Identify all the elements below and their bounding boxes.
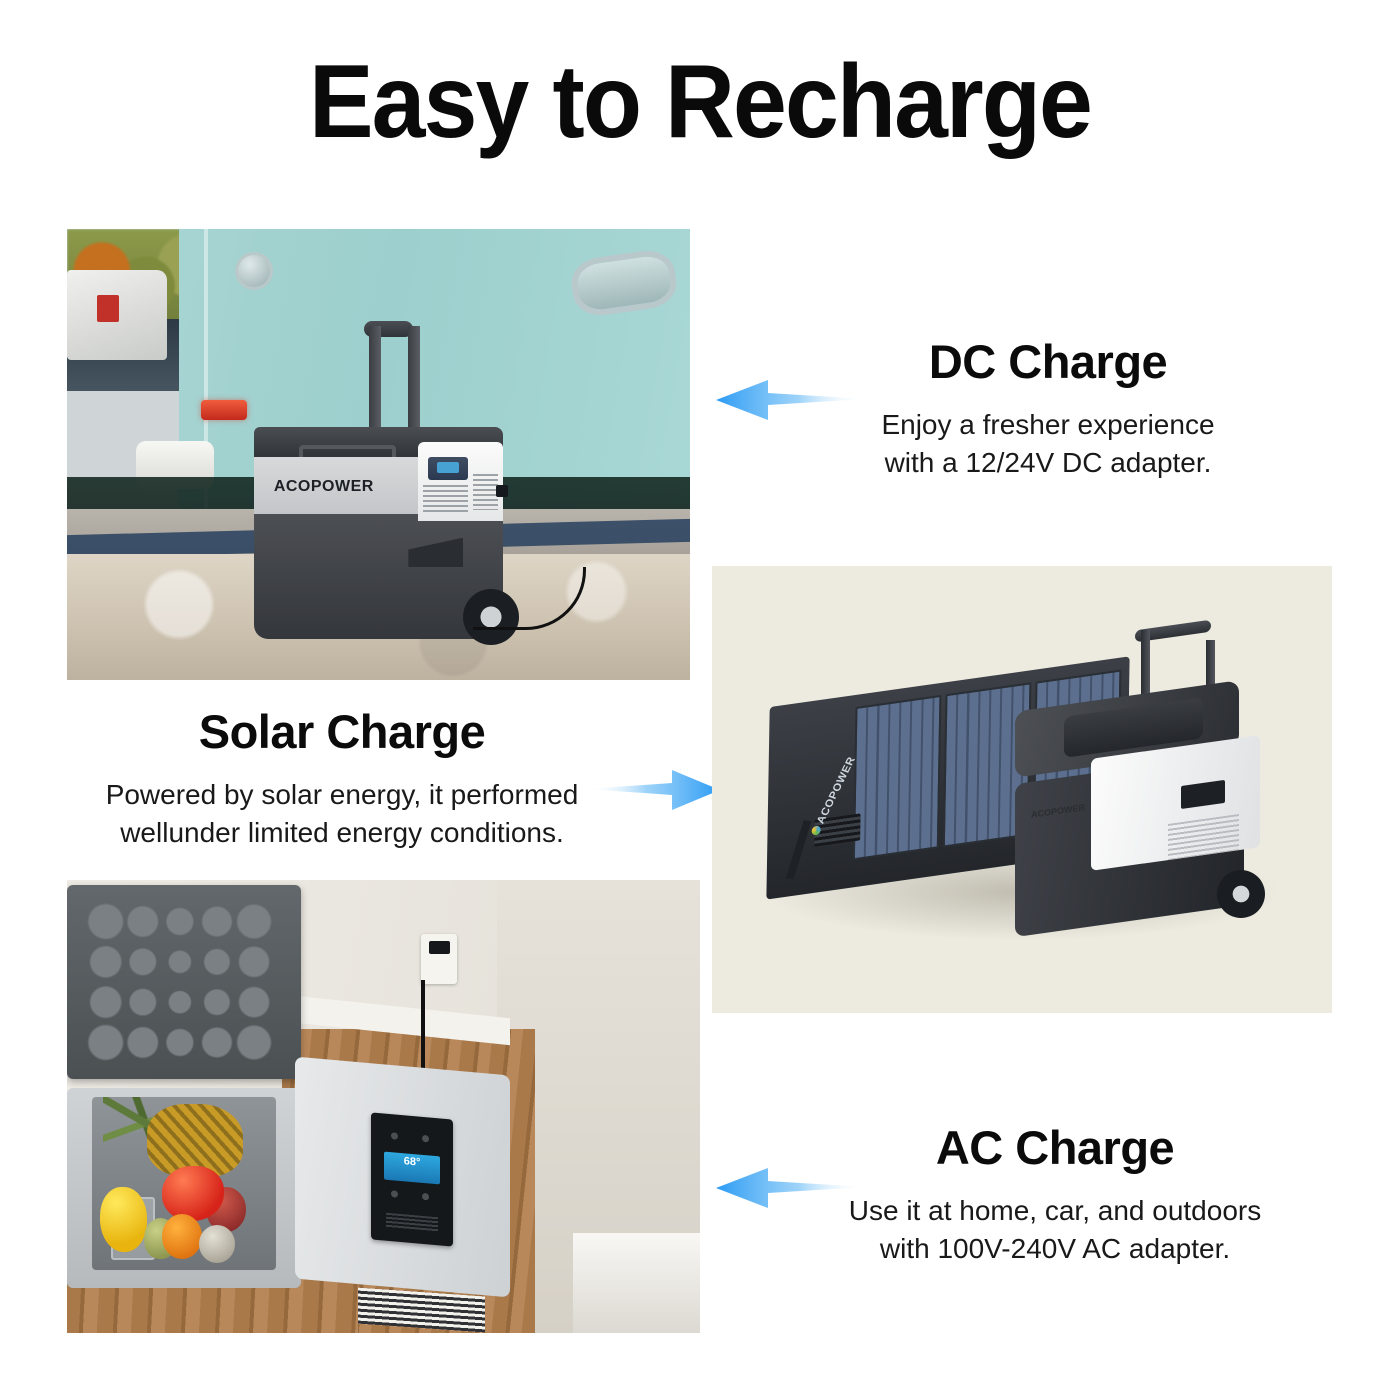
fridge-interior [92, 1097, 276, 1269]
control-button-power [391, 1131, 398, 1139]
portable-fridge-render: ACOPOWER [1010, 691, 1283, 946]
temperature-value: 68° [384, 1151, 440, 1172]
trailer-lock-icon [235, 252, 273, 290]
portable-fridge: ACOPOWER [254, 427, 503, 639]
fridge-open-lid [67, 885, 301, 1080]
infographic-page: Easy to Recharge ACOPOWER [0, 0, 1400, 1400]
speaker-grill [386, 1212, 439, 1232]
feature-dc-charge: DC Charge Enjoy a fresher experience wit… [838, 336, 1258, 483]
yellow-bell-pepper [100, 1187, 148, 1252]
interior-door [573, 1233, 700, 1333]
arrow-right-icon-solar [586, 762, 726, 818]
page-title: Easy to Recharge [49, 48, 1351, 157]
orange [162, 1214, 202, 1259]
onion [199, 1225, 236, 1263]
solar-cell-block [853, 695, 942, 861]
control-button-mode [422, 1134, 429, 1142]
feature-body-dc: Enjoy a fresher experience with a 12/24V… [838, 406, 1258, 483]
fridge-wheel [1217, 870, 1265, 918]
feature-solar-charge: Solar Charge Powered by solar energy, it… [42, 706, 642, 853]
feature-heading-dc: DC Charge [838, 336, 1258, 388]
feature-body-ac: Use it at home, car, and outdoors with 1… [830, 1192, 1280, 1269]
lcd-display: 68° [384, 1151, 440, 1184]
vent-louvers-front [423, 485, 468, 513]
control-display [428, 457, 468, 480]
control-button-down [391, 1190, 398, 1198]
photo-solar-charge: ACOPOWER ACOPOWER [712, 566, 1332, 1013]
parked-vehicle-white [67, 270, 167, 360]
dc-power-port [496, 485, 508, 497]
brand-logo-text: ACOPOWER [274, 478, 374, 496]
handle-pole-left [369, 326, 381, 432]
wall-outlet [421, 934, 457, 984]
control-button-up [422, 1193, 429, 1201]
handle-pole-right [408, 326, 420, 432]
photo-ac-charge: 68° [67, 880, 700, 1333]
trailer-tail-light [201, 400, 247, 420]
control-panel: 68° [371, 1112, 453, 1246]
feature-body-solar: Powered by solar energy, it performed we… [42, 776, 642, 853]
vent-louvers-side [473, 474, 498, 510]
feature-heading-ac: AC Charge [830, 1122, 1280, 1174]
feature-heading-solar: Solar Charge [42, 706, 642, 758]
photo-dc-charge: ACOPOWER [67, 229, 690, 680]
feature-ac-charge: AC Charge Use it at home, car, and outdo… [830, 1122, 1280, 1269]
